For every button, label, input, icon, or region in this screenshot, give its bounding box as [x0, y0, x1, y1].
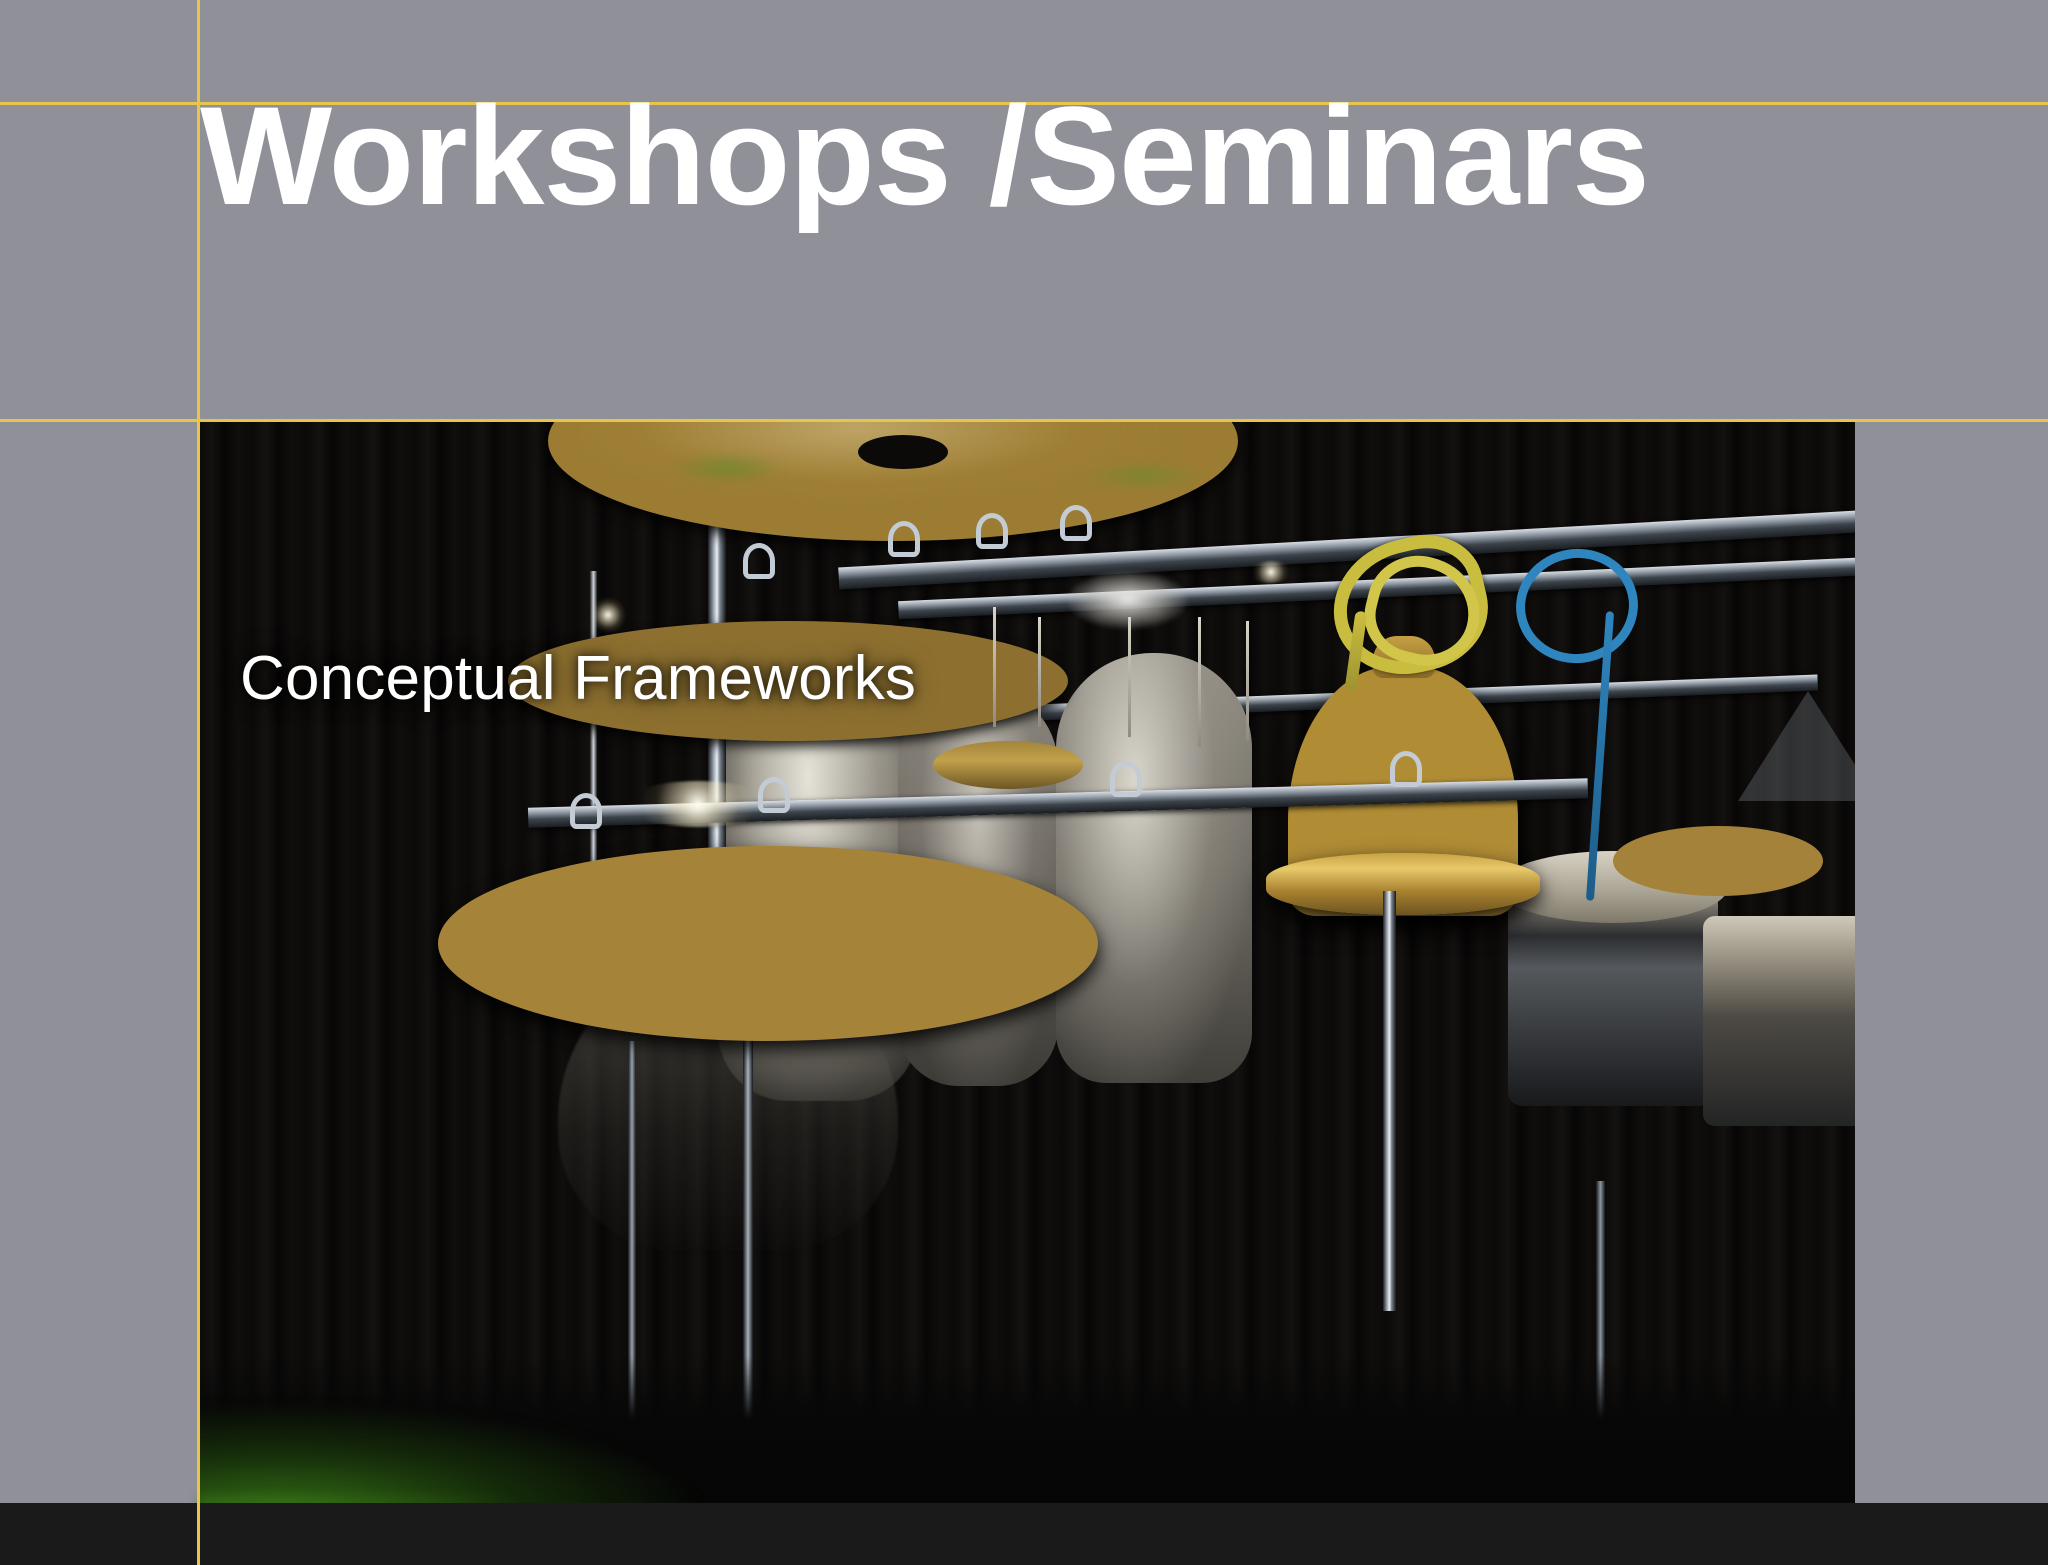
gong-cord: [1198, 617, 1201, 747]
accent-rule-vertical: [197, 0, 200, 1565]
rail-hook: [1060, 505, 1092, 541]
stage-light-flare: [590, 597, 626, 633]
small-cymbal-bell: [933, 741, 1083, 789]
gong-cord: [1246, 621, 1249, 741]
accent-rule-horizontal-bottom: [0, 419, 2048, 422]
gong-cord: [1128, 617, 1131, 737]
percussion-instrument-rack-photo: [198, 421, 1855, 1515]
stage-light-flare: [1248, 561, 1294, 583]
rail-hook: [570, 793, 602, 829]
small-cymbal-right: [1613, 826, 1823, 896]
bottom-dark-band: [0, 1503, 2048, 1565]
gong-cord: [1038, 617, 1041, 727]
bell-stand-post: [1383, 891, 1396, 1311]
hanging-gong-right: [1056, 653, 1252, 1083]
rail-hook: [743, 543, 775, 579]
stage-light-flare: [623, 781, 773, 827]
rail-hook: [1390, 751, 1422, 787]
bell-lip: [1266, 853, 1540, 915]
large-foreground-cymbal: [438, 846, 1098, 1041]
rail-hook: [888, 521, 920, 557]
gong-cord: [993, 607, 996, 727]
photo-stage: [198, 421, 1855, 1515]
cymbal-green-reflection-right: [1078, 461, 1208, 491]
slide-title: Workshops /Seminars: [200, 86, 2030, 226]
presentation-slide: Conceptual Frameworks Workshops /Seminar…: [0, 0, 2048, 1565]
cymbal-green-reflection-left: [668, 451, 788, 485]
rail-hook: [1110, 761, 1142, 797]
frame-drum-far-right: [1703, 916, 1855, 1126]
triangle-stand: [1738, 691, 1855, 801]
rail-hook: [976, 513, 1008, 549]
slide-subtitle: Conceptual Frameworks: [240, 644, 916, 714]
cymbal-centre-hole: [858, 435, 948, 469]
